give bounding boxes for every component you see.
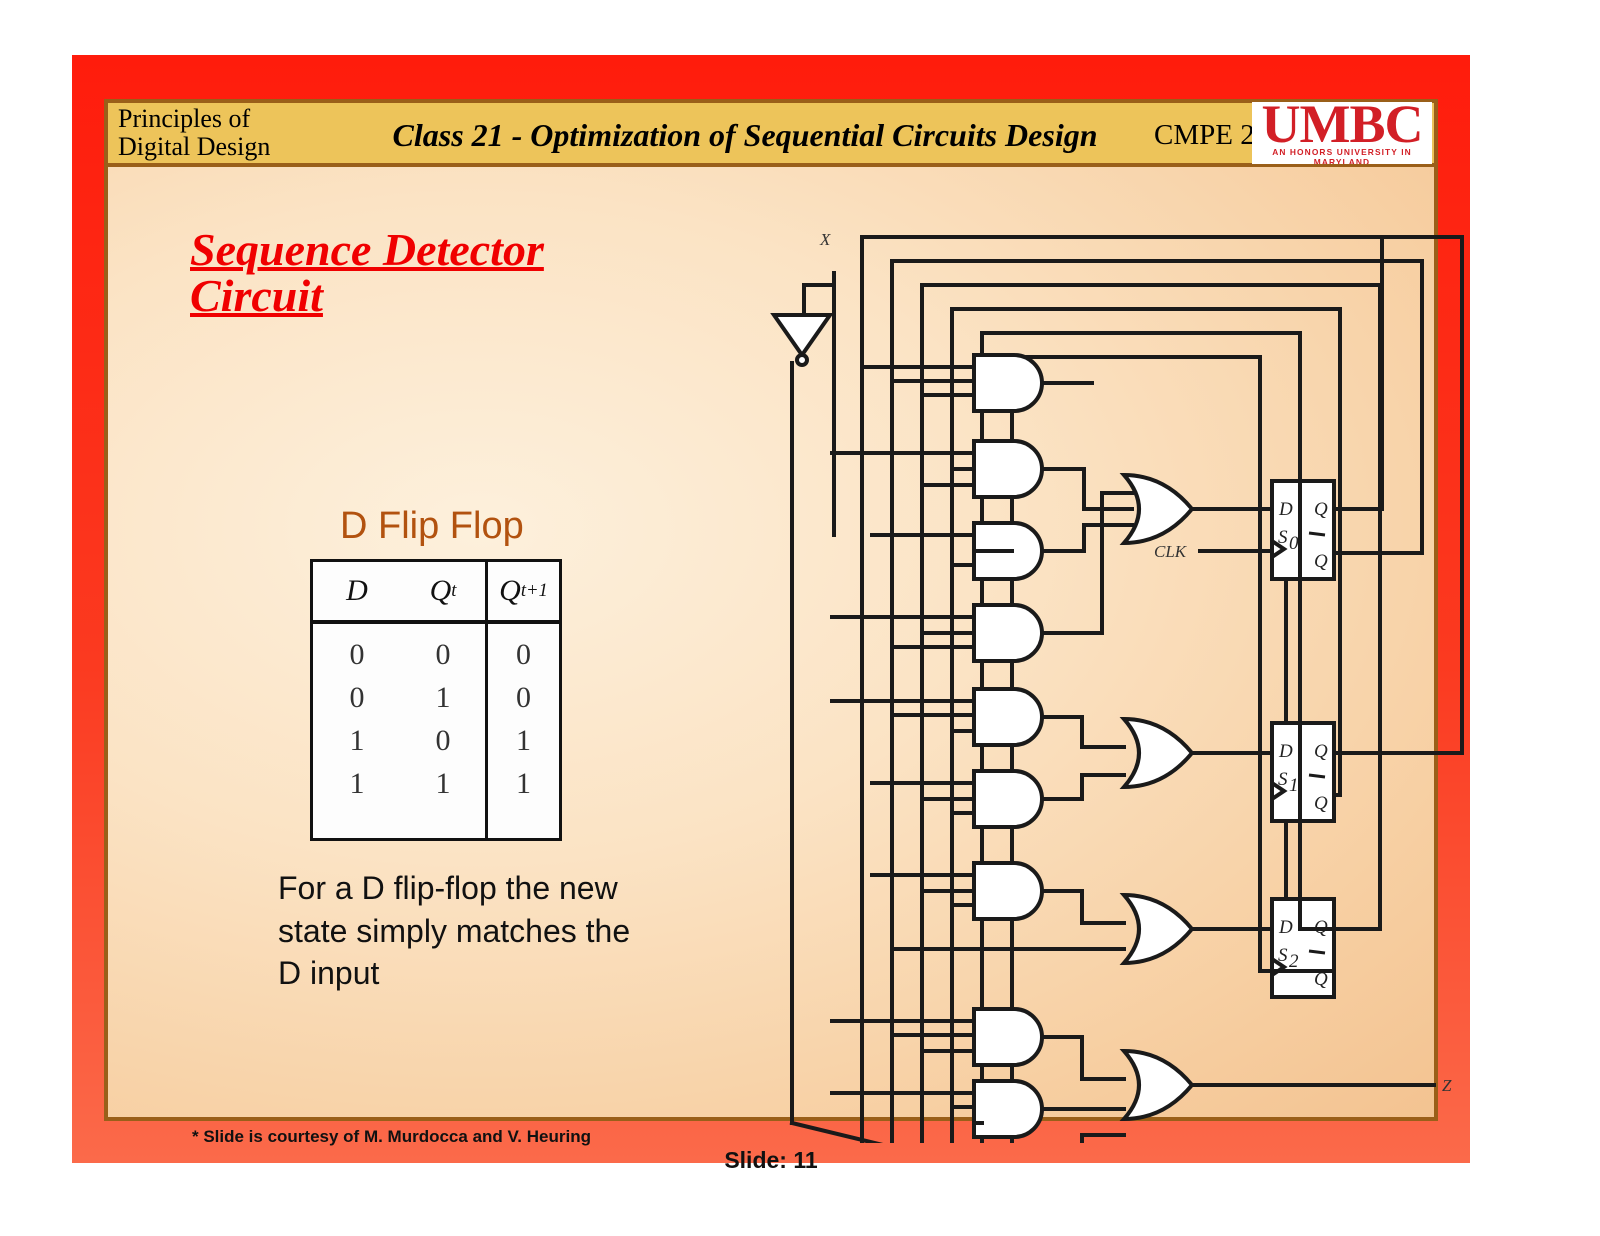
course-subtitle: Principles of Digital Design bbox=[118, 105, 304, 160]
truth-table-col-d: D bbox=[313, 562, 401, 620]
truth-table-column-d: 0 0 1 1 bbox=[313, 624, 401, 838]
table-cell: 1 bbox=[436, 767, 451, 801]
page-title: Sequence Detector Circuit bbox=[190, 227, 660, 319]
dff-heading: D Flip Flop bbox=[340, 505, 524, 548]
table-cell: 0 bbox=[350, 681, 365, 715]
table-cell: 0 bbox=[436, 638, 451, 672]
truth-table-body: 0 0 1 1 0 1 0 1 0 0 1 1 bbox=[313, 624, 559, 838]
table-cell: 1 bbox=[516, 724, 531, 758]
page-title-line2: Circuit bbox=[190, 270, 323, 321]
slide-number: Slide: 11 bbox=[72, 1147, 1470, 1174]
table-cell: 0 bbox=[436, 724, 451, 758]
slide-frame: Principles of Digital Design Class 21 - … bbox=[72, 55, 1470, 1163]
ff1-d-label: D bbox=[1278, 741, 1293, 762]
dff-note-text: For a D flip-flop the new state simply m… bbox=[278, 867, 638, 995]
svg-text:2: 2 bbox=[1289, 951, 1299, 972]
truth-table: D Qt Qt+1 0 0 1 1 0 1 0 1 0 0 bbox=[310, 559, 562, 841]
umbc-logo-wordmark: UMBC bbox=[1252, 102, 1432, 148]
page-title-line1: Sequence Detector bbox=[190, 224, 544, 275]
input-label-x: X bbox=[819, 230, 831, 249]
truth-table-col-qt: Qt bbox=[401, 562, 485, 620]
truth-table-column-qt: 0 1 0 1 bbox=[401, 624, 485, 838]
table-cell: 1 bbox=[350, 724, 365, 758]
ff2-d-label: D bbox=[1278, 917, 1293, 938]
ff0-d-label: D bbox=[1278, 499, 1293, 520]
slide-header-band: Principles of Digital Design Class 21 - … bbox=[104, 99, 1438, 167]
ff1-q-label: Q bbox=[1314, 741, 1328, 762]
umbc-logo-tagline: AN HONORS UNIVERSITY IN MARYLAND bbox=[1252, 147, 1432, 164]
svg-text:0: 0 bbox=[1289, 533, 1299, 554]
sequence-detector-circuit-diagram: X bbox=[762, 223, 1502, 1143]
table-cell: 1 bbox=[350, 767, 365, 801]
lecture-title: Class 21 - Optimization of Sequential Ci… bbox=[340, 117, 1150, 154]
table-cell: 1 bbox=[516, 767, 531, 801]
table-cell: 0 bbox=[350, 638, 365, 672]
table-cell: 0 bbox=[516, 638, 531, 672]
svg-text:1: 1 bbox=[1289, 775, 1299, 796]
ff1-qbar-label: Q bbox=[1314, 793, 1328, 814]
umbc-logo: UMBC AN HONORS UNIVERSITY IN MARYLAND bbox=[1252, 102, 1432, 164]
truth-table-header-row: D Qt Qt+1 bbox=[313, 562, 559, 624]
ff0-qbar-label: Q bbox=[1314, 551, 1328, 572]
truth-table-column-qt1: 0 0 1 1 bbox=[485, 624, 559, 838]
clock-label: CLK bbox=[1154, 542, 1188, 561]
truth-table-col-qt1: Qt+1 bbox=[485, 562, 559, 620]
course-subtitle-line1: Principles of bbox=[118, 105, 304, 133]
courtesy-note: * Slide is courtesy of M. Murdocca and V… bbox=[192, 1127, 591, 1147]
table-cell: 0 bbox=[516, 681, 531, 715]
table-cell: 1 bbox=[436, 681, 451, 715]
course-subtitle-line2: Digital Design bbox=[118, 133, 304, 161]
ff0-q-label: Q bbox=[1314, 499, 1328, 520]
output-label-z: Z bbox=[1442, 1076, 1452, 1095]
